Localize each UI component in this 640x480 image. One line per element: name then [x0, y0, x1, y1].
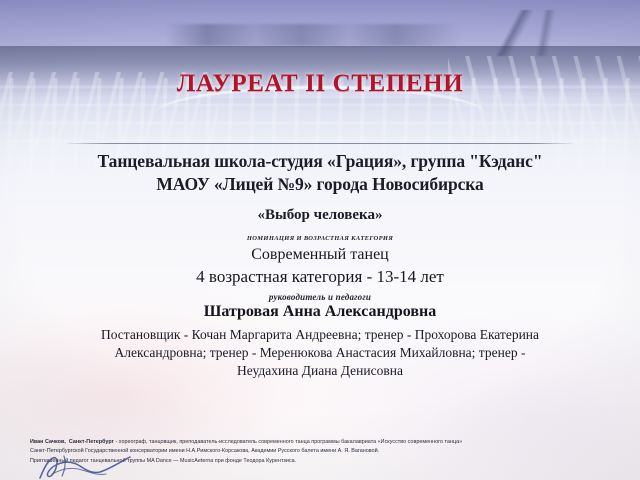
footer-line-1: Иван Сачков, Санкт-Петербург - хореограф…: [30, 438, 630, 447]
staff-line-2: Александровна; тренер - Меренюкова Анаст…: [36, 344, 604, 362]
staff-line-1: Постановщик - Кочан Маргарита Андреевна;…: [36, 326, 604, 344]
staff-line-3: Неудахина Диана Денисовна: [36, 362, 604, 380]
age-category-value: 4 возрастная категория - 13-14 лет: [0, 267, 640, 287]
juror-credentials: - хореограф, танцовщик, преподаватель-ис…: [114, 439, 462, 445]
organization-line-1: Танцевальная школа-студия «Грация», груп…: [0, 150, 640, 173]
footer-line-2: Санкт-Петербургской Государственной конс…: [30, 447, 630, 456]
certificate-page: ЛАУРЕАТ II СТЕПЕНИ Танцевальная школа-ст…: [0, 0, 640, 480]
leader-name: Шатровая Анна Александровна: [0, 303, 640, 321]
header-divider: [68, 143, 572, 144]
juror-city: Санкт-Петербург: [69, 439, 114, 445]
piece-title: «Выбор человека»: [0, 207, 640, 224]
recipient-organization: Танцевальная школа-студия «Грация», груп…: [0, 150, 640, 197]
nomination-value: Современный танец: [0, 246, 640, 264]
footer-fine-print: Иван Сачков, Санкт-Петербург - хореограф…: [30, 438, 630, 466]
staff-list: Постановщик - Кочан Маргарита Андреевна;…: [36, 326, 604, 380]
footer-line-3: Приглашённый педагог танцевальной труппы…: [30, 457, 630, 466]
organization-line-2: МАОУ «Лицей №9» города Новосибирска: [0, 173, 640, 196]
leaders-caption: руководитель и педагоги: [0, 292, 640, 302]
juror-name: Иван Сачков,: [30, 439, 66, 445]
award-title: ЛАУРЕАТ II СТЕПЕНИ: [0, 70, 640, 98]
nomination-caption: НОМИНАЦИЯ И ВОЗРАСТНАЯ КАТЕГОРИЯ: [0, 235, 640, 242]
